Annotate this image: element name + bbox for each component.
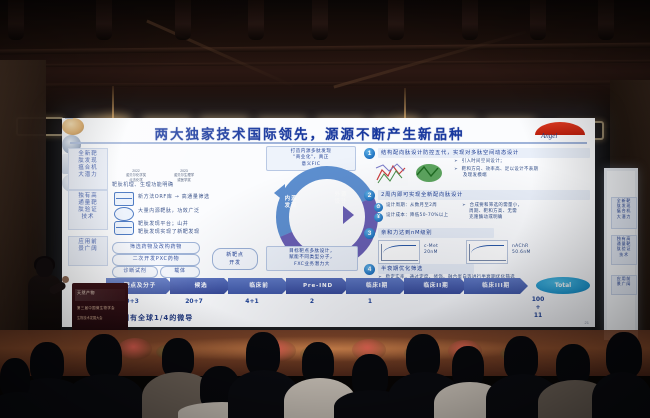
right-bullet-2a: 设计周期：从数月至2周 <box>386 203 456 209</box>
right-bullet-2c: ➢ 合成要和筛选的需量小， 周期、靶和方高、无需 克隆酶动或明确 <box>462 203 584 222</box>
speaker-head <box>36 258 53 277</box>
icon-caption: 2023诺贝尔生理学或医学奖 <box>162 169 206 182</box>
cycle-label-inner: 内源发现 <box>280 196 302 210</box>
left-block-2: 独有高通量靶肽验证技术 <box>68 190 108 230</box>
pill-pxc-drugs: 二次开发PXC药物 <box>112 254 200 266</box>
molecule-image-b <box>414 161 444 185</box>
sub-badge-icon: ¥ <box>374 213 383 222</box>
plot-label-1: c-Met20nM <box>424 244 462 256</box>
left-block-3: 应用前景广阔 <box>68 236 108 266</box>
pipeline-stage-6: 临床III期 <box>464 278 528 294</box>
right-heading-2: 2周内即可实现全新配向肽设计 <box>378 190 590 200</box>
cycle-arrow-head <box>343 206 354 224</box>
podium-line-1: 天然产物 <box>77 290 95 296</box>
icon-caption: 2022诺贝尔化学奖点击化学 <box>112 169 160 182</box>
left-line-1: 靶肽机理、生理功能明确 <box>112 182 262 189</box>
ceiling-truss <box>0 42 650 54</box>
angel-logo: Angel <box>533 120 589 142</box>
badge-number-2: 2 <box>364 190 375 201</box>
secondary-display-panel: 全新靶肽发现瘟合机大潜力 独有高通量靶肽验证技术 应用前景广阔 <box>604 168 638 340</box>
hanging-speaker <box>598 0 614 40</box>
pill-diagnostic: 诊断试剂 <box>112 266 158 278</box>
secondary-block-1: 全新靶肽发现瘟合机大潜力 <box>611 197 637 229</box>
audience-shoulders <box>592 372 650 418</box>
slide-title: 两大独家技术国际领先，源源不断产生新品种 <box>62 123 557 143</box>
pill-screen-drugs: 筛选药物及改构药物 <box>112 242 200 254</box>
hanging-speaker <box>530 0 546 40</box>
pill-carrier: 载体 <box>160 266 200 278</box>
conference-hall-scene: 两大独家技术国际领先，源源不断产生新品种 Angel 全新靶肽发现瘟合机大潜力 … <box>0 0 650 418</box>
badge-number-4: 4 <box>364 264 375 275</box>
affinity-plot-1 <box>378 240 420 264</box>
left-line-3: 大量内源靶肽，功效广泛 <box>138 208 268 215</box>
hanging-speaker <box>462 0 478 40</box>
cycle-label-outer: 外源设计 <box>330 192 352 206</box>
right-bullet-1a: ➢ 引入时间空间设计； <box>454 159 580 165</box>
projection-screen: 两大独家技术国际领先，源源不断产生新品种 Angel 全新靶肽发现瘟合机大潜力 … <box>62 118 595 327</box>
hanging-speaker <box>175 0 191 40</box>
pipeline-total-count: 100+11 <box>510 296 566 320</box>
secondary-block-2: 独有高通量靶肽验证技术 <box>611 235 637 265</box>
right-heading-1: 结构配向肽设计防控五代，实现对多肽空间动态设计 <box>378 148 590 158</box>
podium-line-2: 第三届中国微生物学会 <box>77 305 115 310</box>
hanging-speakers-row <box>0 0 650 42</box>
presentation-slide: 两大独家技术国际领先，源源不断产生新品种 Angel 全新靶肽发现瘟合机大潜力 … <box>62 118 595 327</box>
pipeline-stage-1: 候选 <box>170 278 232 294</box>
left-block-1: 全新靶肽发现瘟合机大潜力 <box>68 148 108 190</box>
throughput-icon <box>114 192 134 206</box>
pipeline-count-1: 20+7 <box>166 298 222 305</box>
ceiling-truss <box>0 80 650 88</box>
sub-badge-icon: ⏱ <box>374 203 383 212</box>
molecule-image-a <box>374 160 408 186</box>
badge-number-1: 1 <box>364 148 375 159</box>
speaker-hand <box>62 276 69 283</box>
cycle-diagram: 内源发现 外源设计 <box>272 162 356 246</box>
pipeline-count-2: 4+1 <box>224 298 280 305</box>
slide-page-number: 21 <box>585 320 589 325</box>
pipeline-stage-5: 临床II期 <box>404 278 468 294</box>
audience-shoulders <box>66 374 144 418</box>
network-icon <box>114 207 134 221</box>
pipeline-total-badge: Total <box>536 277 590 294</box>
molecule-svg-b <box>414 161 444 185</box>
wave-icon <box>114 221 134 235</box>
slide-footer-text: 拥有全球1/4的微导 <box>122 313 193 323</box>
hanging-speaker <box>312 0 328 40</box>
pipeline-stage-2: 临床前 <box>228 278 290 294</box>
hanging-speaker <box>388 0 404 40</box>
badge-number-3: 3 <box>364 228 375 239</box>
pipeline-stage-3: Pre-IND <box>286 278 350 294</box>
pill-new-target: 新靶点开发 <box>212 248 258 270</box>
right-heading-3: 亲和力达到nM级别 <box>378 228 494 238</box>
hanging-speaker <box>96 0 112 40</box>
left-line-4: 靶肽发现平台；山并 <box>138 221 270 228</box>
right-bullet-1b: ➢ 靶和方向、效率高、足以设计不表期 及理发模端 <box>454 167 584 179</box>
right-heading-4: 半衰期优化筛选 <box>378 264 474 274</box>
left-line-5: 靶肽发现实现了新靶发现 <box>138 229 270 236</box>
pipeline-stage-4: 临床I期 <box>346 278 408 294</box>
ceiling <box>0 0 650 128</box>
pipeline-count-4: 1 <box>342 298 398 305</box>
logo-text: Angel <box>541 132 557 140</box>
podium-line-3: 生物技术发展大会 <box>77 315 103 320</box>
ceiling-truss <box>0 60 650 68</box>
hanging-speaker <box>248 0 264 40</box>
plot-label-2: nAChR50.6nM <box>512 244 552 256</box>
hanging-speaker <box>8 0 24 40</box>
audience <box>0 332 650 418</box>
secondary-display-content: 全新靶肽发现瘟合机大潜力 独有高通量靶肽验证技术 应用前景广阔 <box>607 171 635 337</box>
left-line-2: 新方法ORF库 → 高通量筛选 <box>138 194 268 201</box>
cycle-bottom-note: 目标靶点多肽设计，赋能不同类型分子，FXC业务潜力大 <box>266 246 358 271</box>
affinity-plot-2 <box>466 240 508 264</box>
right-bullet-2b: 设计成本：降低50-70%以上 <box>386 213 458 219</box>
pipeline-chevrons: 靶点及分子 候选 临床前 Pre-IND 临床I期 临床II期 临床III期 T… <box>106 278 591 294</box>
title-divider <box>70 142 587 144</box>
secondary-block-3: 应用前景广阔 <box>611 275 637 295</box>
pipeline-count-3: 2 <box>284 298 340 305</box>
molecule-svg-a <box>374 160 408 186</box>
